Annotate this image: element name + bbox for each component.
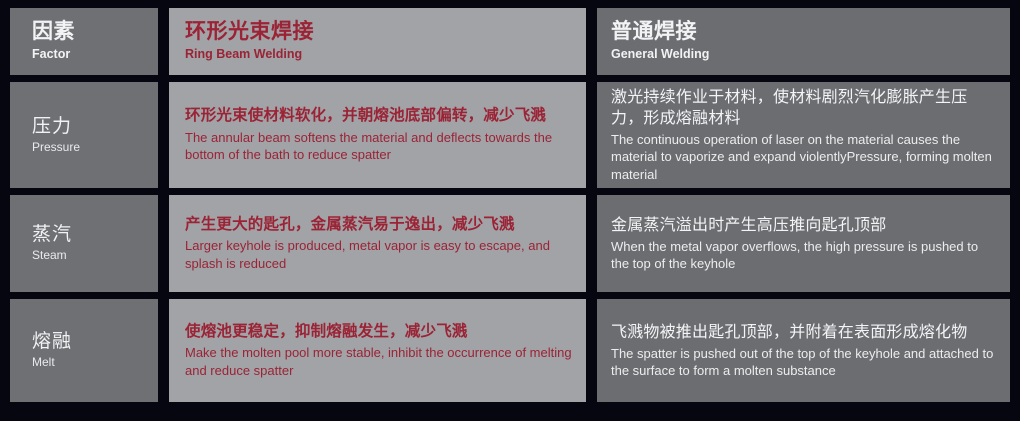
cell-general-steam: 金属蒸汽溢出时产生高压推向匙孔顶部 When the metal vapor o… [597, 195, 1010, 292]
cell-general-melt: 飞溅物被推出匙孔顶部，并附着在表面形成熔化物 The spatter is pu… [597, 299, 1010, 402]
row-label-melt-cn: 熔融 [32, 330, 158, 354]
header-general-en: General Welding [611, 46, 994, 62]
header-factor-en: Factor [32, 46, 158, 62]
table-row: 熔融 Melt 使熔池更稳定，抑制熔融发生，减少飞溅 Make the molt… [10, 299, 1010, 402]
row-label-steam-cn: 蒸汽 [32, 223, 158, 247]
cell-general-pressure-cn: 激光持续作业于材料，使材料剧烈汽化膨胀产生压力，形成熔融材料 [611, 87, 994, 129]
cell-ring-steam-en: Larger keyhole is produced, metal vapor … [185, 237, 572, 272]
cell-ring-pressure-en: The annular beam softens the material an… [185, 129, 572, 164]
comparison-table: 因素 Factor 环形光束焊接 Ring Beam Welding 普通焊接 … [0, 0, 1020, 421]
header-cell-factor: 因素 Factor [10, 8, 158, 75]
row-label-steam: 蒸汽 Steam [10, 195, 158, 292]
cell-ring-steam-cn: 产生更大的匙孔，金属蒸汽易于逸出，减少飞溅 [185, 215, 572, 235]
table-row: 压力 Pressure 环形光束使材料软化，并朝熔池底部偏转，减少飞溅 The … [10, 82, 1010, 188]
row-label-pressure-en: Pressure [32, 140, 158, 156]
cell-general-steam-en: When the metal vapor overflows, the high… [611, 238, 994, 273]
row-label-melt: 熔融 Melt [10, 299, 158, 402]
cell-ring-pressure-cn: 环形光束使材料软化，并朝熔池底部偏转，减少飞溅 [185, 106, 572, 126]
cell-ring-steam: 产生更大的匙孔，金属蒸汽易于逸出，减少飞溅 Larger keyhole is … [169, 195, 586, 292]
row-label-pressure-cn: 压力 [32, 115, 158, 139]
header-general-cn: 普通焊接 [611, 20, 994, 45]
cell-ring-pressure: 环形光束使材料软化，并朝熔池底部偏转，减少飞溅 The annular beam… [169, 82, 586, 188]
header-ring-cn: 环形光束焊接 [185, 20, 572, 45]
header-ring-en: Ring Beam Welding [185, 46, 572, 62]
row-label-melt-en: Melt [32, 355, 158, 371]
cell-general-pressure: 激光持续作业于材料，使材料剧烈汽化膨胀产生压力，形成熔融材料 The conti… [597, 82, 1010, 188]
cell-general-melt-cn: 飞溅物被推出匙孔顶部，并附着在表面形成熔化物 [611, 322, 994, 343]
header-cell-ring-beam-welding: 环形光束焊接 Ring Beam Welding [169, 8, 586, 75]
cell-general-melt-en: The spatter is pushed out of the top of … [611, 345, 994, 380]
header-factor-cn: 因素 [32, 20, 158, 45]
header-cell-general-welding: 普通焊接 General Welding [597, 8, 1010, 75]
cell-general-pressure-en: The continuous operation of laser on the… [611, 131, 994, 183]
row-label-steam-en: Steam [32, 248, 158, 264]
row-label-pressure: 压力 Pressure [10, 82, 158, 188]
cell-general-steam-cn: 金属蒸汽溢出时产生高压推向匙孔顶部 [611, 215, 994, 236]
cell-ring-melt-en: Make the molten pool more stable, inhibi… [185, 344, 572, 379]
table-header-row: 因素 Factor 环形光束焊接 Ring Beam Welding 普通焊接 … [10, 8, 1010, 75]
cell-ring-melt-cn: 使熔池更稳定，抑制熔融发生，减少飞溅 [185, 322, 572, 342]
table-row: 蒸汽 Steam 产生更大的匙孔，金属蒸汽易于逸出，减少飞溅 Larger ke… [10, 195, 1010, 292]
cell-ring-melt: 使熔池更稳定，抑制熔融发生，减少飞溅 Make the molten pool … [169, 299, 586, 402]
